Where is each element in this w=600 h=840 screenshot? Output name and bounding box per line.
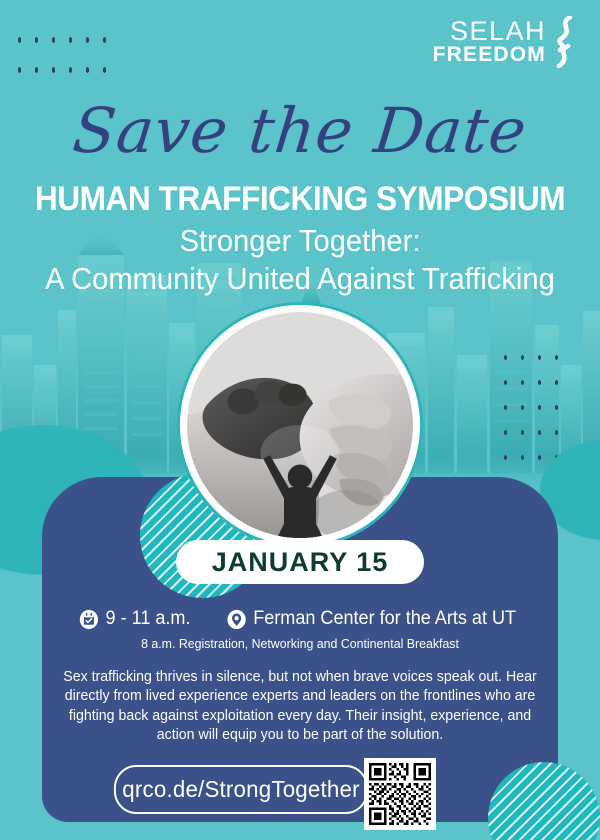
poster-canvas: SELAH FREEDOM Save the Date HUMAN TRAFFI… <box>0 0 600 840</box>
photo-inner <box>187 312 413 538</box>
event-title: HUMAN TRAFFICKING SYMPOSIUM <box>21 180 579 219</box>
event-date-badge: JANUARY 15 <box>176 540 424 584</box>
registration-url-button[interactable]: qrco.de/StrongTogether <box>114 765 368 814</box>
event-subtitle: Stronger Together: A Community United Ag… <box>18 222 582 298</box>
dot-grid-right <box>494 342 558 474</box>
dot-grid-top-left <box>8 22 120 92</box>
selah-freedom-logo: SELAH FREEDOM <box>433 16 578 68</box>
subtitle-line-2: A Community United Against Trafficking <box>18 260 582 298</box>
selah-flame-icon <box>552 16 578 68</box>
event-time-label: 9 - 11 a.m. <box>106 608 191 630</box>
event-description: Sex trafficking thrives in silence, but … <box>62 668 537 745</box>
save-the-date-heading: Save the Date <box>0 100 600 162</box>
qr-code[interactable] <box>364 758 436 830</box>
calendar-icon <box>79 609 99 630</box>
clasped-hands-photo <box>180 305 420 545</box>
map-pin-icon <box>227 609 247 630</box>
event-details-row: 9 - 11 a.m. Ferman Center for the Arts a… <box>42 608 558 630</box>
registration-note: 8 a.m. Registration, Networking and Cont… <box>55 636 545 651</box>
event-location: Ferman Center for the Arts at UT <box>227 608 516 630</box>
subtitle-line-1: Stronger Together: <box>18 222 582 260</box>
logo-line-freedom: FREEDOM <box>433 45 546 65</box>
logo-wordmark: SELAH FREEDOM <box>433 19 546 65</box>
event-time: 9 - 11 a.m. <box>79 608 191 630</box>
logo-line-selah: SELAH <box>433 19 546 45</box>
event-location-label: Ferman Center for the Arts at UT <box>254 608 517 630</box>
